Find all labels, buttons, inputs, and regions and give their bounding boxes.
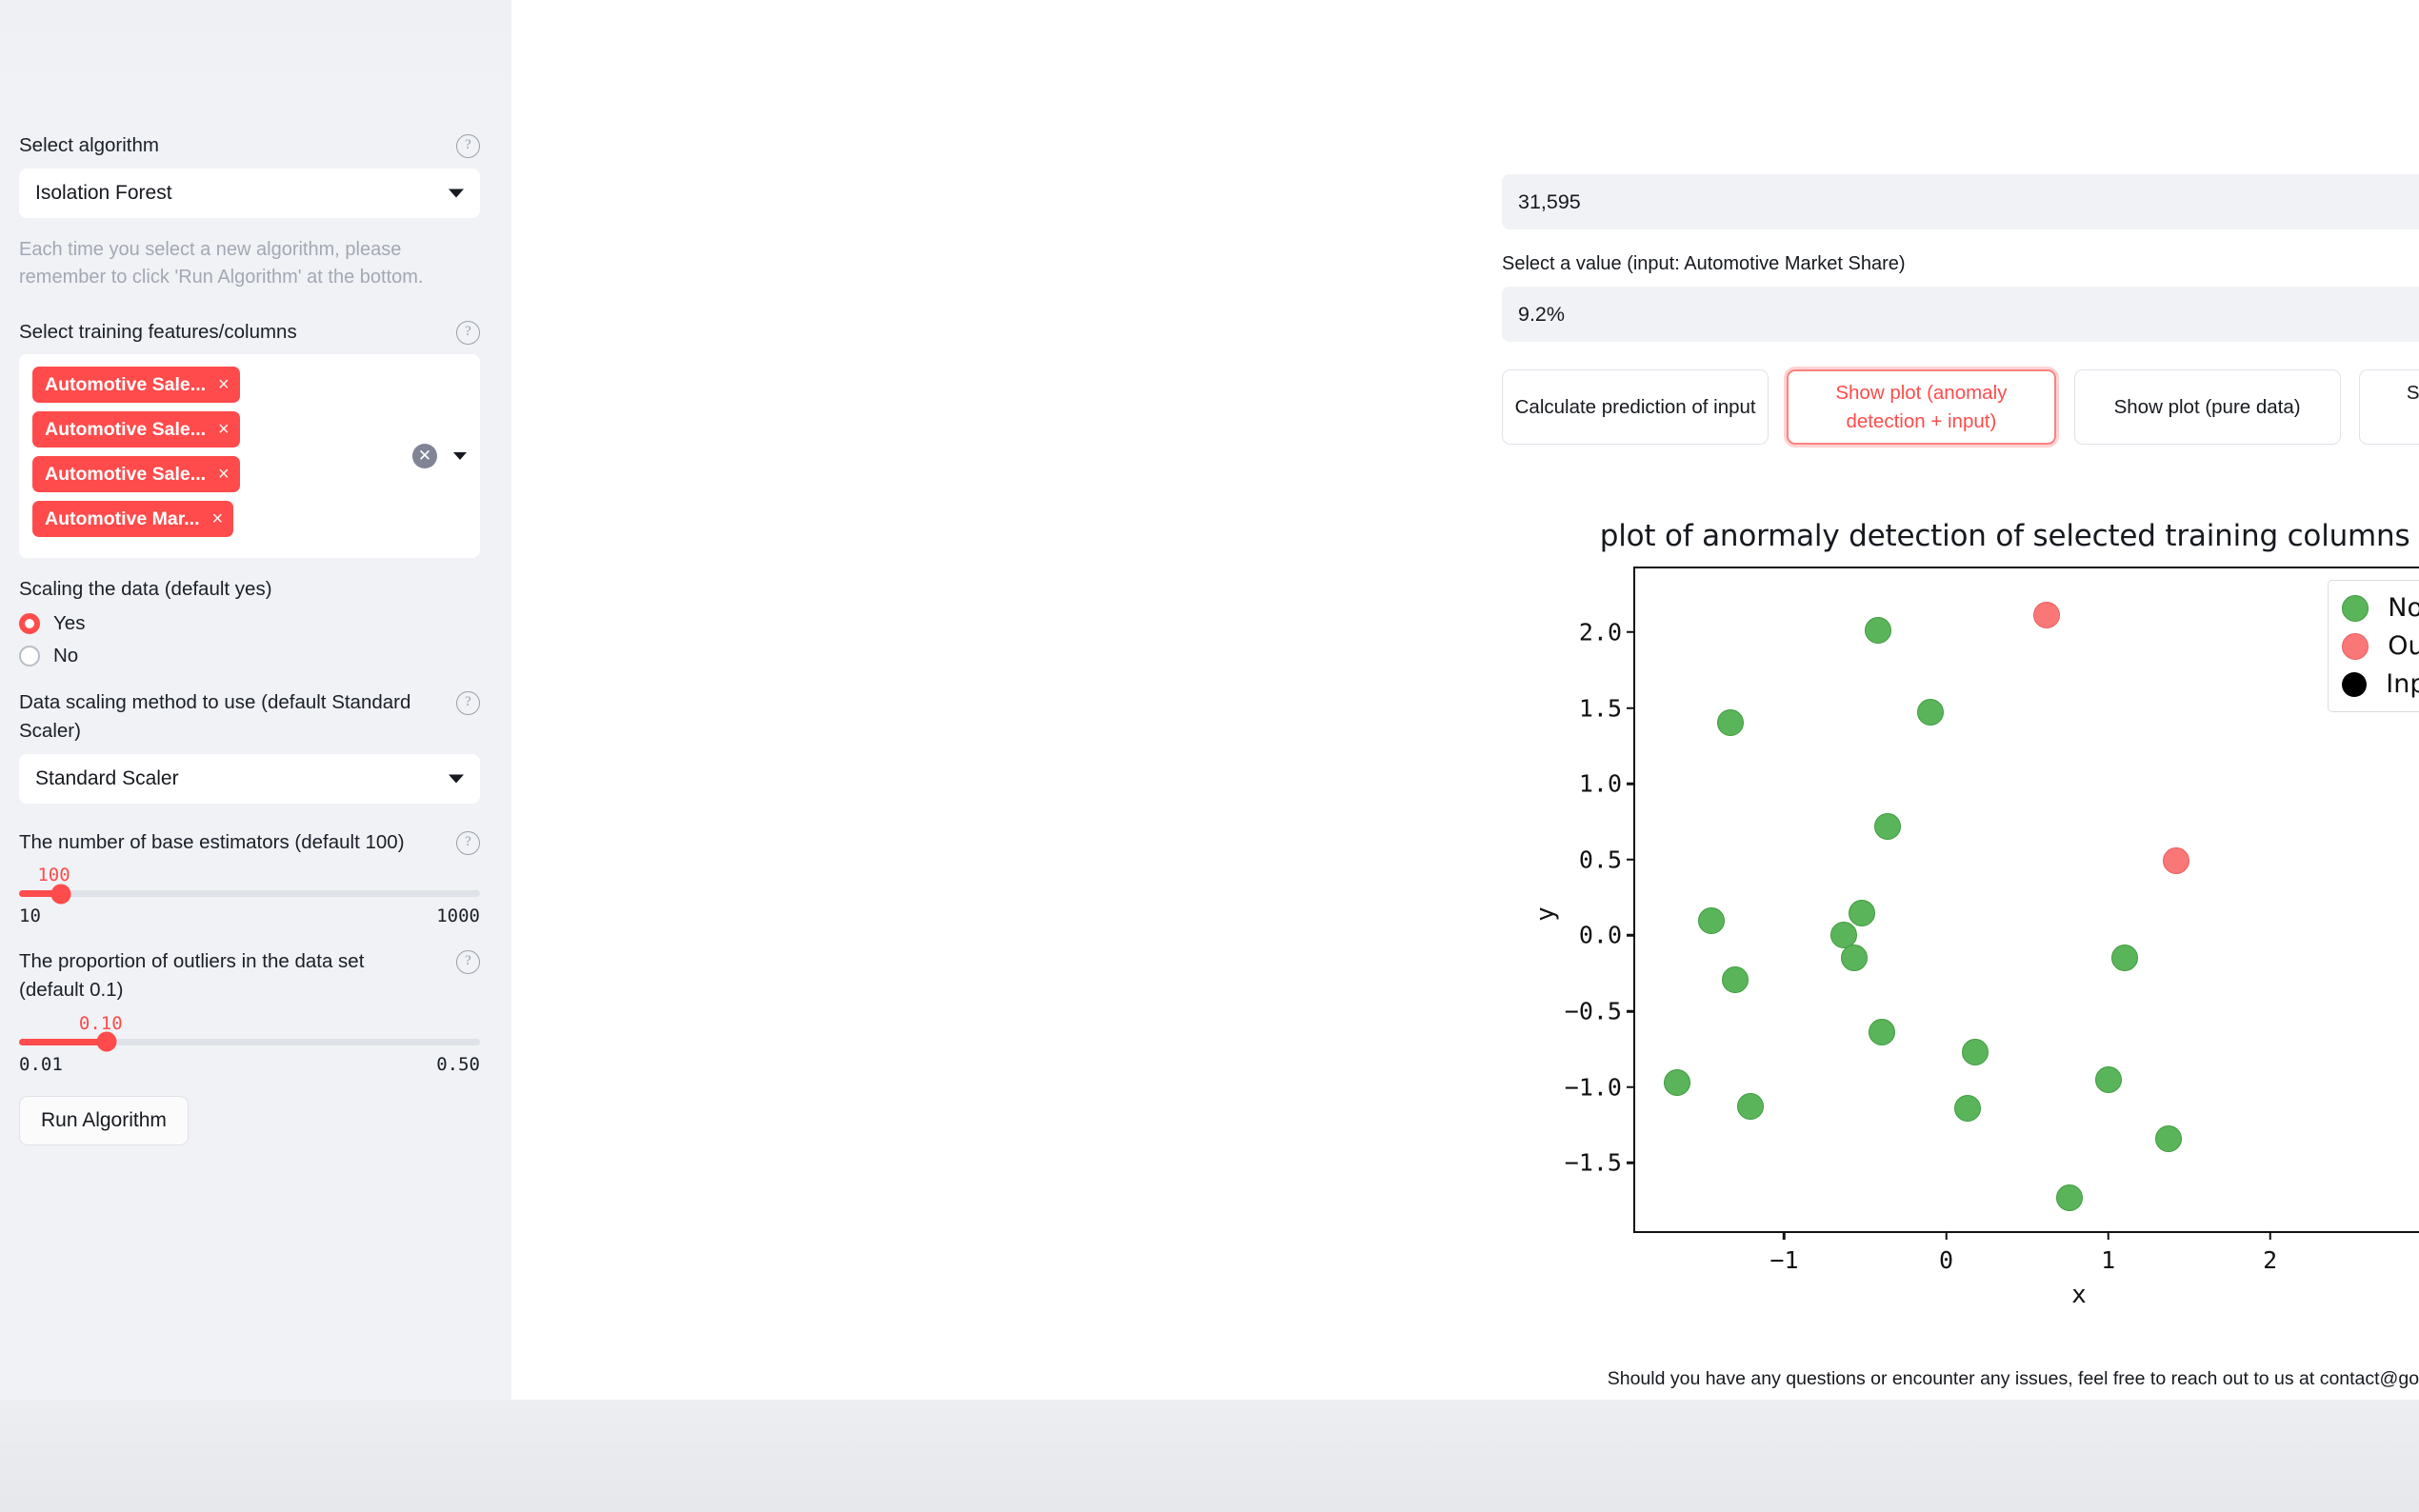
scaling-label-row: Scaling the data (default yes)	[19, 575, 480, 604]
show-plot-pure-data-button[interactable]: Show plot (pure data)	[2074, 369, 2341, 445]
features-label: Select training features/columns	[19, 318, 297, 347]
feature-tag[interactable]: Automotive Sale... ×	[32, 367, 240, 403]
plot-y-tick-label: 1.5	[1579, 694, 1635, 722]
close-icon[interactable]: ×	[218, 374, 230, 396]
plot-point-normal	[1849, 900, 1875, 926]
plot-point-normal	[1841, 945, 1868, 971]
scaler-label-row: Data scaling method to use (default Stan…	[19, 688, 480, 745]
legend-outliers-label: Outliers	[2388, 631, 2419, 661]
contamination-track[interactable]	[19, 1039, 480, 1045]
chevron-down-icon	[449, 774, 464, 783]
plot-y-tick-label: −1.0	[1565, 1073, 1635, 1101]
estimators-range: 10 1000	[19, 905, 480, 926]
row-select[interactable]: 31,595	[1502, 174, 2419, 229]
plot-x-axis-label: x	[2071, 1281, 2087, 1309]
close-icon[interactable]: ×	[218, 464, 230, 486]
help-icon[interactable]: ?	[456, 691, 480, 715]
chevron-down-icon[interactable]	[453, 452, 467, 460]
calculate-prediction-button[interactable]: Calculate prediction of input	[1502, 369, 1769, 445]
clear-all-icon[interactable]: ✕	[412, 444, 437, 468]
plot-point-normal	[1698, 907, 1725, 934]
contamination-min: 0.01	[19, 1054, 63, 1075]
legend-normal-dot-icon	[2342, 595, 2369, 622]
bottom-background-fade	[0, 1400, 2419, 1512]
plot-title: plot of anormaly detection of selected t…	[1502, 519, 2419, 559]
algorithm-select[interactable]: Isolation Forest	[19, 169, 480, 218]
plot-point-normal	[1962, 1039, 1989, 1065]
value-select-caption: Select a value (input: Automotive Market…	[1502, 253, 2419, 275]
plot-y-tick-label: 1.0	[1579, 770, 1635, 798]
contamination-max: 0.50	[436, 1054, 480, 1075]
plot-y-tick-label: −0.5	[1565, 998, 1635, 1025]
scaler-select-value: Standard Scaler	[35, 767, 179, 790]
estimators-label: The number of base estimators (default 1…	[19, 828, 405, 857]
close-icon[interactable]: ×	[212, 508, 224, 530]
help-icon[interactable]: ?	[456, 134, 480, 158]
estimators-track[interactable]	[19, 890, 480, 897]
plot-x-tick-label: −1	[1769, 1231, 1798, 1274]
plot-point-normal	[1664, 1069, 1690, 1096]
feature-tag-label: Automotive Sale...	[45, 374, 206, 396]
plot-legend: Normal Outliers Input	[2328, 580, 2419, 712]
main-panel: 31,595 Select a value (input: Automotive…	[511, 0, 2419, 1400]
plot-y-axis-label: y	[1531, 906, 1560, 922]
algorithm-label: Select algorithm	[19, 131, 159, 160]
row-select-value: 31,595	[1518, 190, 1581, 214]
plot-point-normal	[1954, 1095, 1981, 1122]
plot-point-outliers	[2163, 847, 2189, 874]
feature-tag[interactable]: Automotive Sale... ×	[32, 411, 240, 448]
plot-point-outliers	[2033, 602, 2060, 628]
scaling-option-yes[interactable]: Yes	[19, 612, 480, 635]
estimators-min: 10	[19, 905, 41, 926]
contamination-label: The proportion of outliers in the data s…	[19, 947, 429, 1004]
radio-yes-label: Yes	[53, 612, 85, 635]
estimators-label-row: The number of base estimators (default 1…	[19, 828, 480, 857]
plot-point-normal	[2111, 945, 2138, 971]
plot-point-normal	[2155, 1125, 2182, 1152]
plot-point-normal	[1722, 966, 1749, 993]
feature-tag-label: Automotive Mar...	[45, 508, 200, 530]
legend-item-input: Input	[2342, 669, 2419, 699]
legend-outlier-dot-icon	[2342, 633, 2369, 660]
contamination-fill	[19, 1039, 107, 1045]
algorithm-hint: Each time you select a new algorithm, pl…	[19, 236, 480, 291]
legend-input-label: Input	[2386, 669, 2419, 699]
plot-point-normal	[2056, 1184, 2083, 1211]
main-controls: 31,595 Select a value (input: Automotive…	[1502, 0, 2419, 445]
contamination-slider[interactable]: 0.10 0.01 0.50	[19, 1013, 480, 1075]
tag-list: Automotive Sale... × Automotive Sale... …	[32, 367, 394, 546]
plot-axes-frame: Normal Outliers Input 2.01.51.00.50.0−0.…	[1633, 567, 2419, 1233]
help-icon[interactable]: ?	[456, 831, 480, 855]
contamination-range: 0.01 0.50	[19, 1054, 480, 1075]
plot-y-tick-label: 0.0	[1579, 922, 1635, 949]
help-icon[interactable]: ?	[456, 950, 480, 974]
feature-tag-label: Automotive Sale...	[45, 419, 206, 441]
plot-y-tick-label: 0.5	[1579, 846, 1635, 873]
algorithm-select-value: Isolation Forest	[35, 182, 172, 205]
footer-note: Should you have any questions or encount…	[1502, 1368, 2419, 1390]
legend-item-normal: Normal	[2342, 593, 2419, 623]
plot-point-normal	[1869, 1019, 1895, 1045]
sidebar-top-scrim	[0, 0, 511, 112]
features-label-row: Select training features/columns ?	[19, 318, 480, 347]
plot-y-tick-label: −1.5	[1565, 1149, 1635, 1177]
plot-point-normal	[1917, 699, 1944, 726]
sidebar: Select algorithm ? Isolation Forest Each…	[0, 112, 511, 1400]
estimators-max: 1000	[436, 905, 480, 926]
scatter-plot: plot of anormaly detection of selected t…	[1502, 519, 2419, 1309]
radio-no-label: No	[53, 645, 78, 667]
help-icon[interactable]: ?	[456, 321, 480, 345]
show-plot-anomaly-button[interactable]: Show plot (anomaly detection)	[2359, 369, 2419, 445]
legend-normal-label: Normal	[2388, 593, 2419, 623]
feature-tag[interactable]: Automotive Sale... ×	[32, 456, 240, 492]
plot-x-tick-label: 0	[1939, 1231, 1953, 1274]
estimators-slider[interactable]: 100 10 1000	[19, 865, 480, 926]
app-root: Select algorithm ? Isolation Forest Each…	[0, 0, 2419, 1512]
estimators-thumb[interactable]	[50, 884, 70, 904]
scaling-option-no[interactable]: No	[19, 645, 480, 667]
plot-x-tick-label: 1	[2101, 1231, 2115, 1274]
plot-point-normal	[1737, 1093, 1764, 1120]
legend-input-dot-icon	[2342, 672, 2367, 697]
plot-x-tick-label: 2	[2263, 1231, 2277, 1274]
radio-no-icon[interactable]	[19, 646, 40, 666]
scaler-select[interactable]: Standard Scaler	[19, 754, 480, 804]
algorithm-label-row: Select algorithm ?	[19, 131, 480, 160]
radio-yes-icon[interactable]	[19, 613, 40, 634]
value-select-value: 9.2%	[1518, 303, 1565, 327]
show-plot-anomaly-input-button[interactable]: Show plot (anomaly detection + input)	[1787, 369, 2055, 445]
contamination-value: 0.10	[79, 1013, 480, 1034]
estimators-value: 100	[37, 865, 480, 885]
close-icon[interactable]: ×	[218, 419, 230, 441]
scaling-label: Scaling the data (default yes)	[19, 575, 272, 604]
feature-tag[interactable]: Automotive Mar... ×	[32, 501, 233, 537]
plot-point-normal	[1874, 813, 1901, 840]
feature-tag-label: Automotive Sale...	[45, 464, 206, 486]
run-algorithm-button[interactable]: Run Algorithm	[19, 1096, 189, 1145]
multiselect-actions: ✕	[412, 444, 467, 468]
chevron-down-icon	[449, 189, 464, 197]
plot-point-normal	[1717, 709, 1744, 736]
value-select[interactable]: 9.2%	[1502, 287, 2419, 342]
features-multiselect[interactable]: Automotive Sale... × Automotive Sale... …	[19, 354, 480, 558]
plot-point-normal	[2095, 1066, 2122, 1093]
plot-point-normal	[1865, 617, 1891, 644]
legend-item-outliers: Outliers	[2342, 631, 2419, 661]
plot-y-tick-label: 2.0	[1579, 618, 1635, 646]
contamination-thumb[interactable]	[96, 1032, 116, 1052]
action-button-row: Calculate prediction of input Show plot …	[1502, 369, 2419, 445]
scaler-label: Data scaling method to use (default Stan…	[19, 688, 429, 745]
contamination-label-row: The proportion of outliers in the data s…	[19, 947, 480, 1004]
